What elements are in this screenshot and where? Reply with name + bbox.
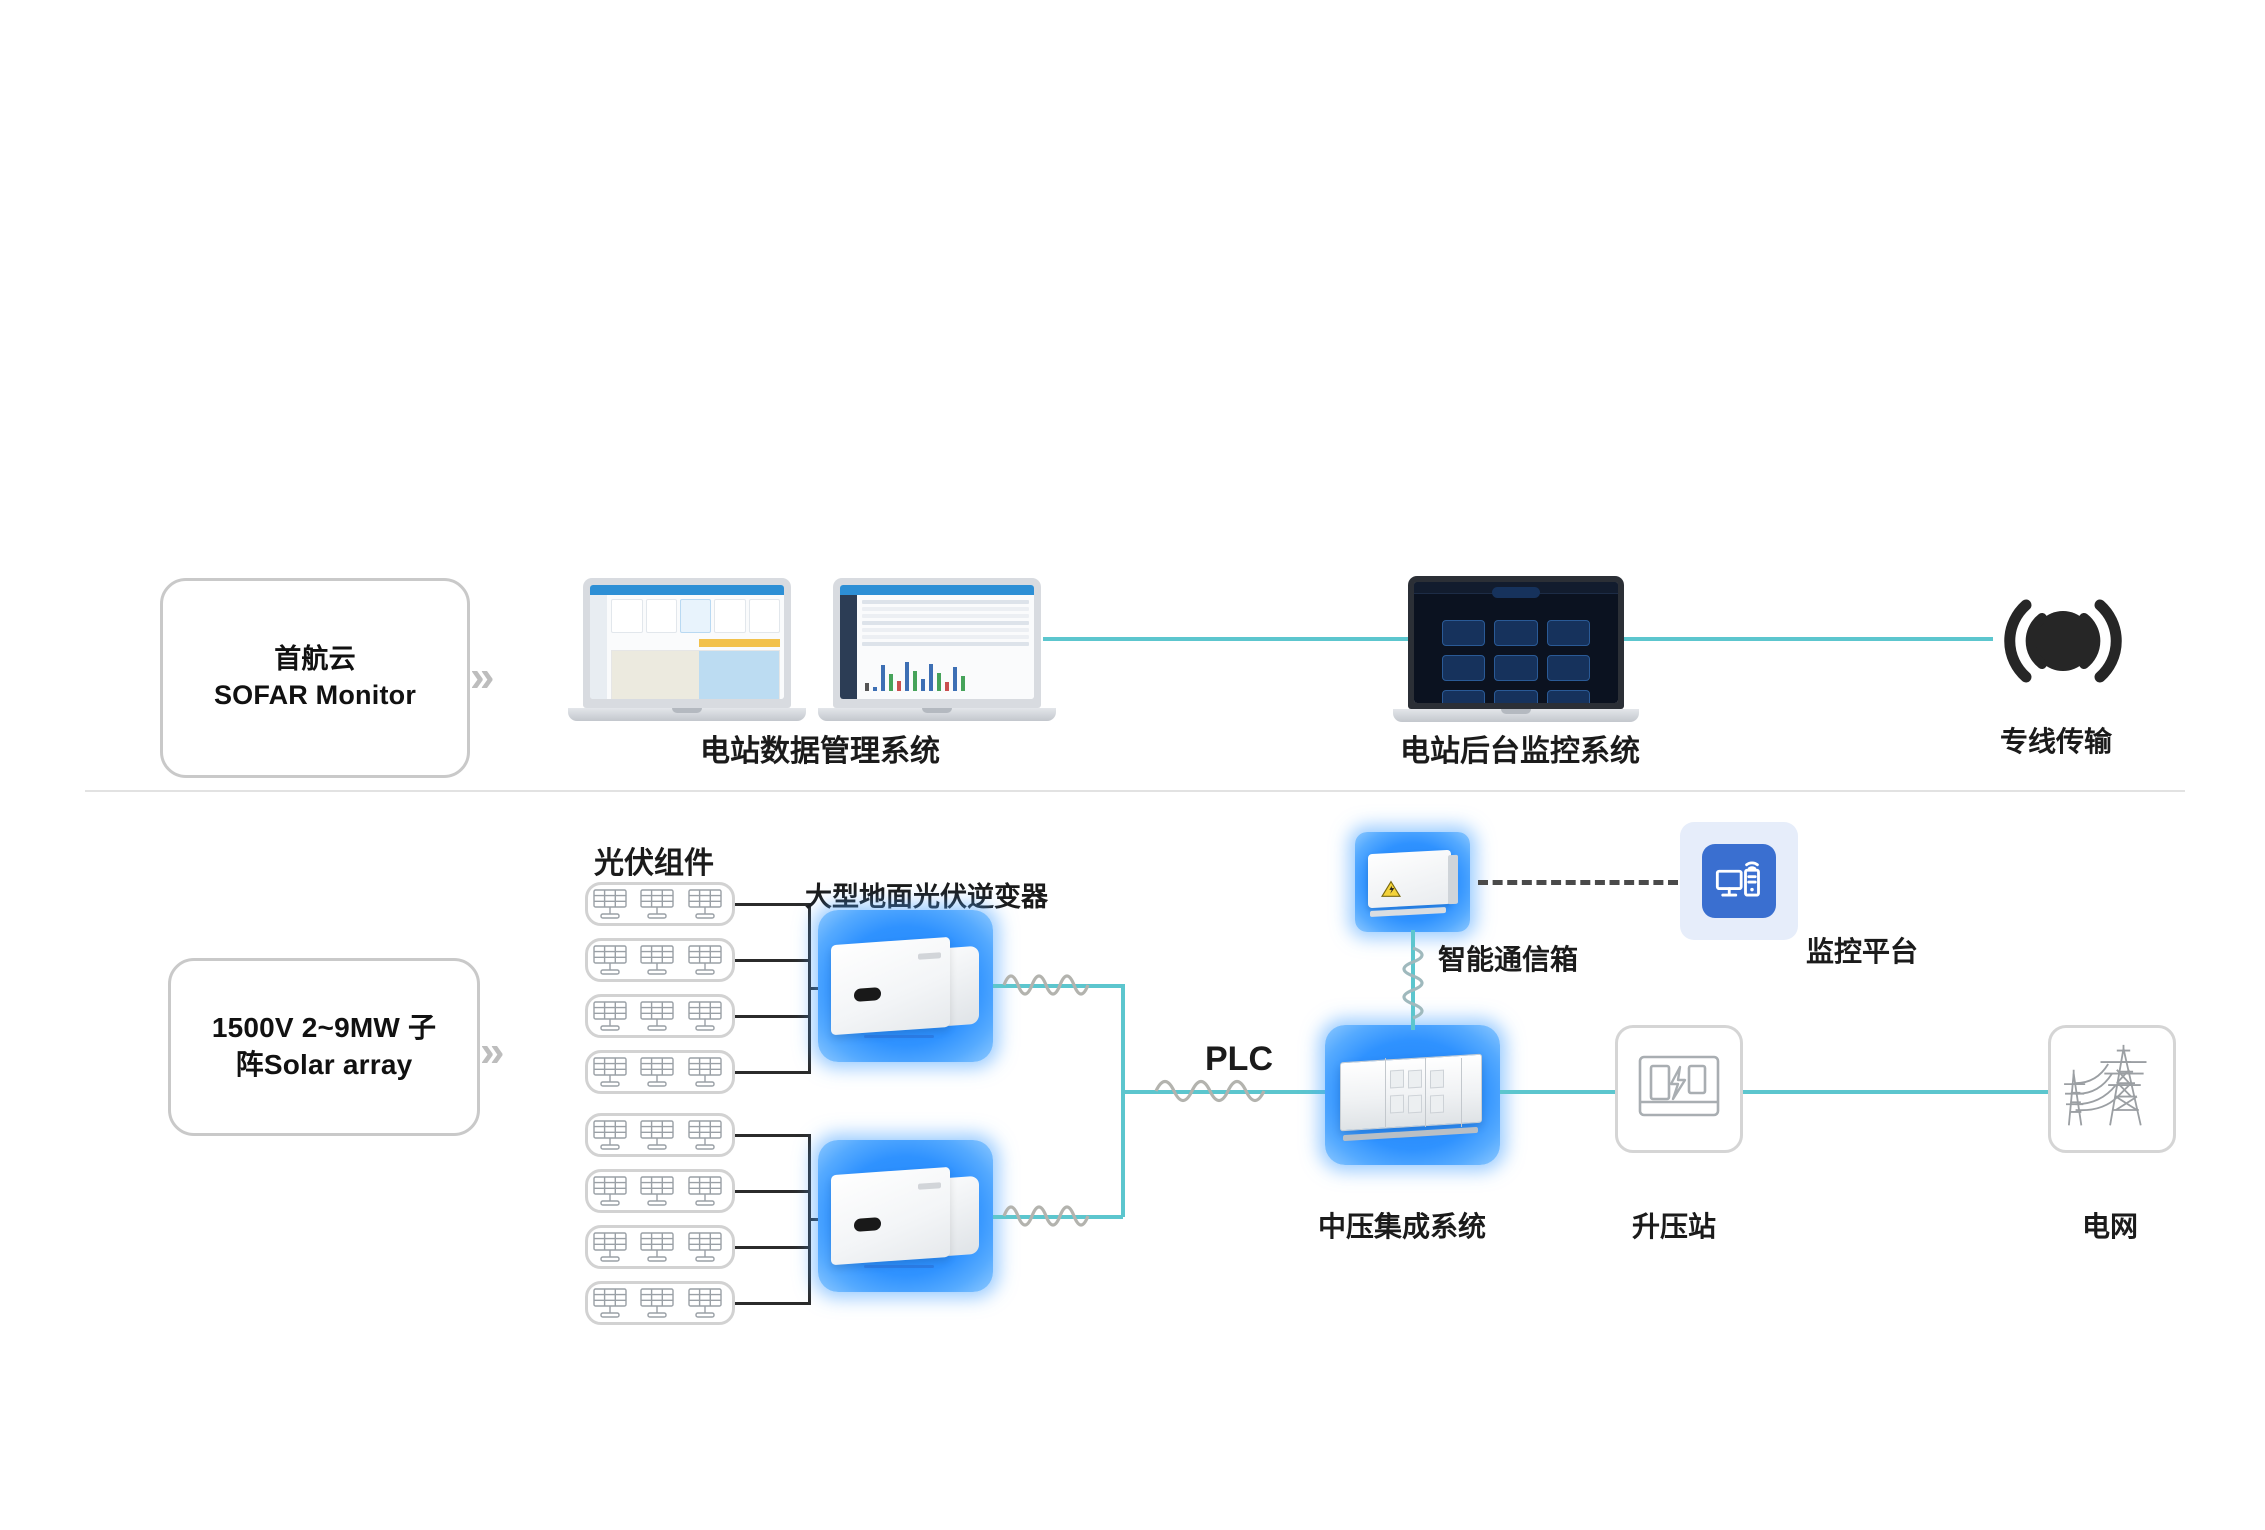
inverter-tile-1[interactable] [818,910,993,1062]
caption-monitor-platform: 监控平台 [1806,930,1918,970]
legend-cloud-chevron-icon: » [470,655,494,699]
section-divider [85,790,2185,792]
backend-title-pill [1492,587,1541,598]
laptop2-topbar [840,585,1034,595]
mv-container-icon [1332,1038,1493,1153]
backend-grid-button[interactable] [1547,620,1590,646]
solar-panel-icon [637,943,683,977]
pv-lead-b2 [735,1190,810,1193]
solar-panel-icon [590,1174,636,1208]
legend-cloud-line2: SOFAR Monitor [214,678,416,714]
caption-smart-communication-box: 智能通信箱 [1438,938,1578,978]
pv-lead-a4 [735,1071,810,1074]
pv-row[interactable] [585,1225,735,1269]
comm-box-tile[interactable] [1355,832,1470,932]
legend-cloud-line1: 首航云 [214,642,416,678]
substation-tile[interactable] [1615,1025,1743,1153]
legend-box-sofar-cloud[interactable]: 首航云 SOFAR Monitor [160,578,470,778]
caption-dedicated-line-transmission: 专线传输 [2000,720,2112,760]
laptop1-screen [590,585,784,699]
caption-mv-integrated-system: 中压集成系统 [1318,1205,1486,1245]
solar-panel-icon [590,1055,636,1089]
laptop2-sidebar [840,595,857,699]
link-backend-to-dedicatedline [1623,637,1993,641]
pv-row[interactable] [585,1050,735,1094]
backend-button-grid [1414,594,1618,703]
diagram-canvas: 首航云 SOFAR Monitor » [0,0,2265,1530]
backend-grid-button[interactable] [1494,655,1537,681]
substation-cabinet-icon [1637,1054,1721,1125]
link-commbox-to-platform [1478,880,1678,885]
backend-grid-button[interactable] [1494,620,1537,646]
backend-grid-button[interactable] [1442,690,1485,703]
caption-large-ground-pv-inverter: 大型地面光伏逆变器 [805,875,1048,914]
kpi-card-highlight [680,599,711,633]
link-mv-to-substation [1500,1090,1615,1094]
solar-panel-icon [685,1118,731,1152]
laptop1-amber-strip [699,639,780,647]
monitor-platform-tile[interactable] [1680,822,1798,940]
kpi-card [749,599,780,633]
caption-power-grid: 电网 [2082,1205,2138,1245]
backend-grid-button[interactable] [1442,620,1485,646]
table-row-line [862,635,1029,639]
solar-panel-icon [590,887,636,921]
pv-row[interactable] [585,882,735,926]
broadcast-signal-icon [1993,586,2133,696]
solar-panel-icon [590,1118,636,1152]
caption-pv-modules: 光伏组件 [594,838,714,882]
laptop-data-management-1[interactable] [583,578,791,723]
transmission-tower-icon [2062,1041,2162,1138]
laptop-backend-monitor[interactable] [1408,576,1624,724]
solar-panel-icon [685,1174,731,1208]
laptop2-notch [922,708,951,713]
laptop1-kpi-cards [607,595,784,637]
solar-panel-icon [590,943,636,977]
kpi-card [646,599,677,633]
pv-row[interactable] [585,994,735,1038]
inverter-trunk-vertical [1121,984,1125,1217]
laptop2-bar-chart [857,649,1034,691]
solar-panel-icon [685,1286,731,1320]
pv-inverter-icon [825,1157,986,1276]
caption-backend-monitor-system: 电站后台监控系统 [1400,726,1640,770]
solar-panel-icon [590,1230,636,1264]
backend-grid-button[interactable] [1442,655,1485,681]
solar-panel-icon [637,1230,683,1264]
solar-panel-icon [590,999,636,1033]
pv-lead-b1 [735,1134,810,1137]
solar-panel-icon [685,887,731,921]
kpi-card [611,599,642,633]
backend-grid-button[interactable] [1547,655,1590,681]
legend-array-line1: 1500V 2~9MW 子 [212,1010,436,1047]
solar-panel-icon [637,1286,683,1320]
mv-system-tile[interactable] [1325,1025,1500,1165]
laptop-data-management-2[interactable] [833,578,1041,723]
caption-substation: 升压站 [1632,1205,1716,1245]
pv-lead-b3 [735,1246,810,1249]
solar-panel-icon [637,1118,683,1152]
backend-grid-button[interactable] [1547,690,1590,703]
solar-panel-icon [637,1174,683,1208]
pv-row[interactable] [585,938,735,982]
coil-icon-inverter2 [1000,1193,1110,1244]
laptop1-topbar [590,585,784,595]
pv-lead-a1 [735,903,810,906]
link-datamgmt-to-backend [1043,637,1411,641]
pv-lead-a3 [735,1015,810,1018]
laptop1-map [611,650,780,699]
legend-array-chevron-icon: » [480,1030,504,1074]
laptop2-screen [840,585,1034,699]
pv-lead-b4 [735,1302,810,1305]
backend-console [1414,582,1618,703]
solar-panel-icon [685,1055,731,1089]
pv-lead-a2 [735,959,810,962]
backend-notch [1501,709,1531,714]
pv-inverter-icon [825,927,986,1046]
pv-row[interactable] [585,1281,735,1325]
backend-grid-button[interactable] [1494,690,1537,703]
table-header-line [862,642,1029,646]
inverter-tile-2[interactable] [818,1140,993,1292]
coil-icon-inverter1 [1000,962,1110,1013]
solar-panel-icon [685,943,731,977]
table-header-line [862,600,1029,604]
laptop1-sidebar [590,595,607,699]
laptop1-content [607,595,784,699]
solar-panel-icon [637,887,683,921]
backend-screen [1414,582,1618,703]
warning-triangle-icon [1381,880,1402,903]
kpi-card [714,599,745,633]
solar-panel-icon [685,999,731,1033]
table-header-line [862,621,1029,625]
table-row-line [862,628,1029,632]
solar-panel-icon [637,999,683,1033]
caption-data-management-system: 电站数据管理系统 [700,726,940,770]
table-row-line [862,614,1029,618]
legend-box-solar-array[interactable]: 1500V 2~9MW 子 阵Solar array [168,958,480,1136]
laptop1-notch [672,708,701,713]
monitor-tower-wifi-icon [1702,844,1775,917]
legend-array-line2: 阵Solar array [212,1047,436,1084]
solar-panel-icon [590,1286,636,1320]
grid-tile[interactable] [2048,1025,2176,1153]
smart-communication-box-icon [1360,841,1466,923]
solar-panel-icon [637,1055,683,1089]
link-substation-to-grid [1743,1090,2048,1094]
table-row-line [862,607,1029,611]
coil-icon-commbox [1391,945,1435,1034]
solar-panel-icon [685,1230,731,1264]
laptop2-content [857,595,1034,699]
pv-row[interactable] [585,1169,735,1213]
pv-row[interactable] [585,1113,735,1157]
sine-wave-icon [1152,1068,1292,1119]
